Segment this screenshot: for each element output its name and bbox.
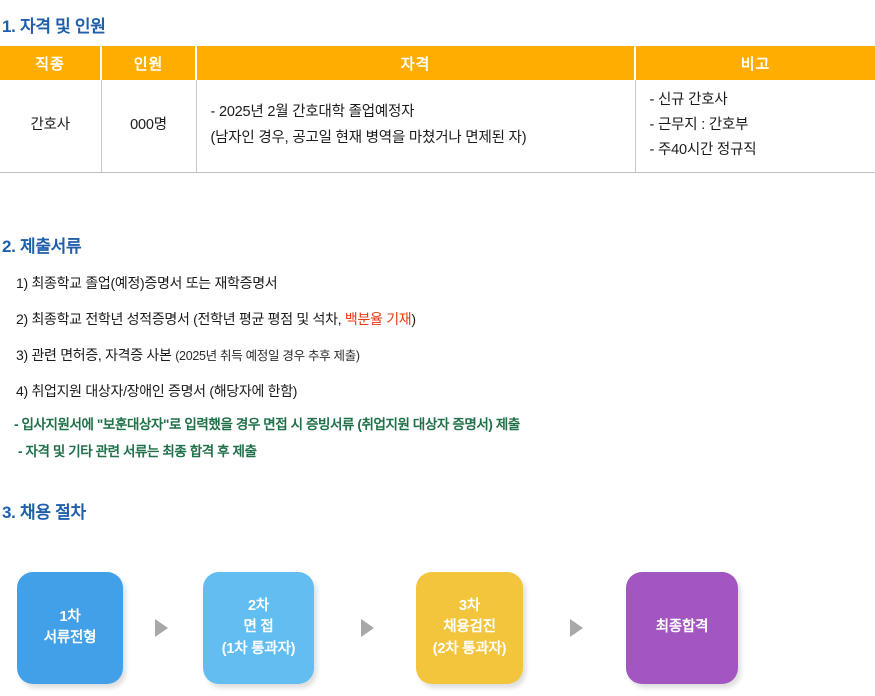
table-row: 간호사 000명 - 2025년 2월 간호대학 졸업예정자 (남자인 경우, … [0,80,875,172]
document-item-4-text: 4) 취업지원 대상자/장애인 증명서 (해당자에 한함) [16,383,297,399]
process-step-2-line-2: 면 접 [243,617,273,638]
recruitment-flow: 1차서류전형2차면 접(1차 통과자)3차채용검진(2차 통과자)최종합격 [0,535,875,665]
section-1-heading: 1. 자격 및 인원 [0,12,875,37]
document-item-2-highlight: 백분율 기재 [345,311,412,327]
column-header-qualification: 자격 [196,46,635,80]
section-documents: 2. 제출서류 1) 최종학교 졸업(예정)증명서 또는 재학증명서 2) 최종… [0,232,875,460]
document-item-1-text: 1) 최종학교 졸업(예정)증명서 또는 재학증명서 [16,275,277,291]
list-item: 3) 관련 면허증, 자격증 사본 (2025년 취득 예정일 경우 추후 제출… [0,345,875,365]
qualification-table: 직종 인원 자격 비고 간호사 000명 - 2025년 2월 간호대학 졸업예… [0,46,875,173]
document-item-2-prefix: 2) 최종학교 전학년 성적증명서 (전학년 평균 평점 및 석차, [16,311,345,327]
column-header-count: 인원 [101,46,196,80]
cell-remark: - 신규 간호사 - 근무지 : 간호부 - 주40시간 정규직 [635,80,875,172]
list-item: 1) 최종학교 졸업(예정)증명서 또는 재학증명서 [0,273,875,293]
qualification-line-2: (남자인 경우, 공고일 현재 병역을 마쳤거나 면제된 자) [211,126,621,151]
list-item: 2) 최종학교 전학년 성적증명서 (전학년 평균 평점 및 석차, 백분율 기… [0,309,875,329]
process-step-2: 2차면 접(1차 통과자) [203,572,314,684]
document-sub-note-1: - 입사지원서에 "보훈대상자"로 입력했을 경우 면접 시 증빙서류 (취업지… [0,413,875,433]
flow-arrow-icon-2 [361,619,374,637]
remark-line-2: - 근무지 : 간호부 [650,113,862,138]
process-step-3-line-3: (2차 통과자) [433,639,507,660]
table-header-row: 직종 인원 자격 비고 [0,46,875,80]
qualification-line-1: - 2025년 2월 간호대학 졸업예정자 [211,100,621,125]
process-step-1: 1차서류전형 [17,572,123,684]
remark-line-1: - 신규 간호사 [650,88,862,113]
process-step-3-line-2: 채용검진 [443,617,496,638]
section-2-heading: 2. 제출서류 [0,232,875,257]
process-step-3: 3차채용검진(2차 통과자) [416,572,523,684]
document-item-3-main: 3) 관련 면허증, 자격증 사본 [16,347,175,363]
section-process: 3. 채용 절차 1차서류전형2차면 접(1차 통과자)3차채용검진(2차 통과… [0,498,875,665]
documents-list: 1) 최종학교 졸업(예정)증명서 또는 재학증명서 2) 최종학교 전학년 성… [0,273,875,401]
document-item-3-note: (2025년 취득 예정일 경우 추후 제출) [175,349,360,363]
process-step-2-line-3: (1차 통과자) [222,639,296,660]
remark-line-3: - 주40시간 정규직 [650,138,862,163]
section-3-heading: 3. 채용 절차 [0,498,875,523]
section-qualification: 1. 자격 및 인원 직종 인원 자격 비고 간호사 000명 [0,12,875,173]
column-header-remark: 비고 [635,46,875,80]
list-item: 4) 취업지원 대상자/장애인 증명서 (해당자에 한함) [0,381,875,401]
process-step-1-line-1: 1차 [59,607,80,628]
document-sub-note-2: - 자격 및 기타 관련 서류는 최종 합격 후 제출 [0,440,875,460]
document-item-2-suffix: ) [411,311,415,327]
column-header-job: 직종 [0,46,101,80]
process-step-1-line-2: 서류전형 [44,628,97,649]
flow-arrow-icon-3 [570,619,583,637]
cell-job: 간호사 [0,80,101,172]
job-posting-page: 1. 자격 및 인원 직종 인원 자격 비고 간호사 000명 [0,0,875,696]
process-step-4: 최종합격 [626,572,738,684]
process-step-4-line-1: 최종합격 [656,617,709,638]
cell-qualification: - 2025년 2월 간호대학 졸업예정자 (남자인 경우, 공고일 현재 병역… [196,80,635,172]
process-step-2-line-1: 2차 [248,596,269,617]
process-step-3-line-1: 3차 [459,596,480,617]
flow-arrow-icon-1 [155,619,168,637]
cell-count: 000명 [101,80,196,172]
